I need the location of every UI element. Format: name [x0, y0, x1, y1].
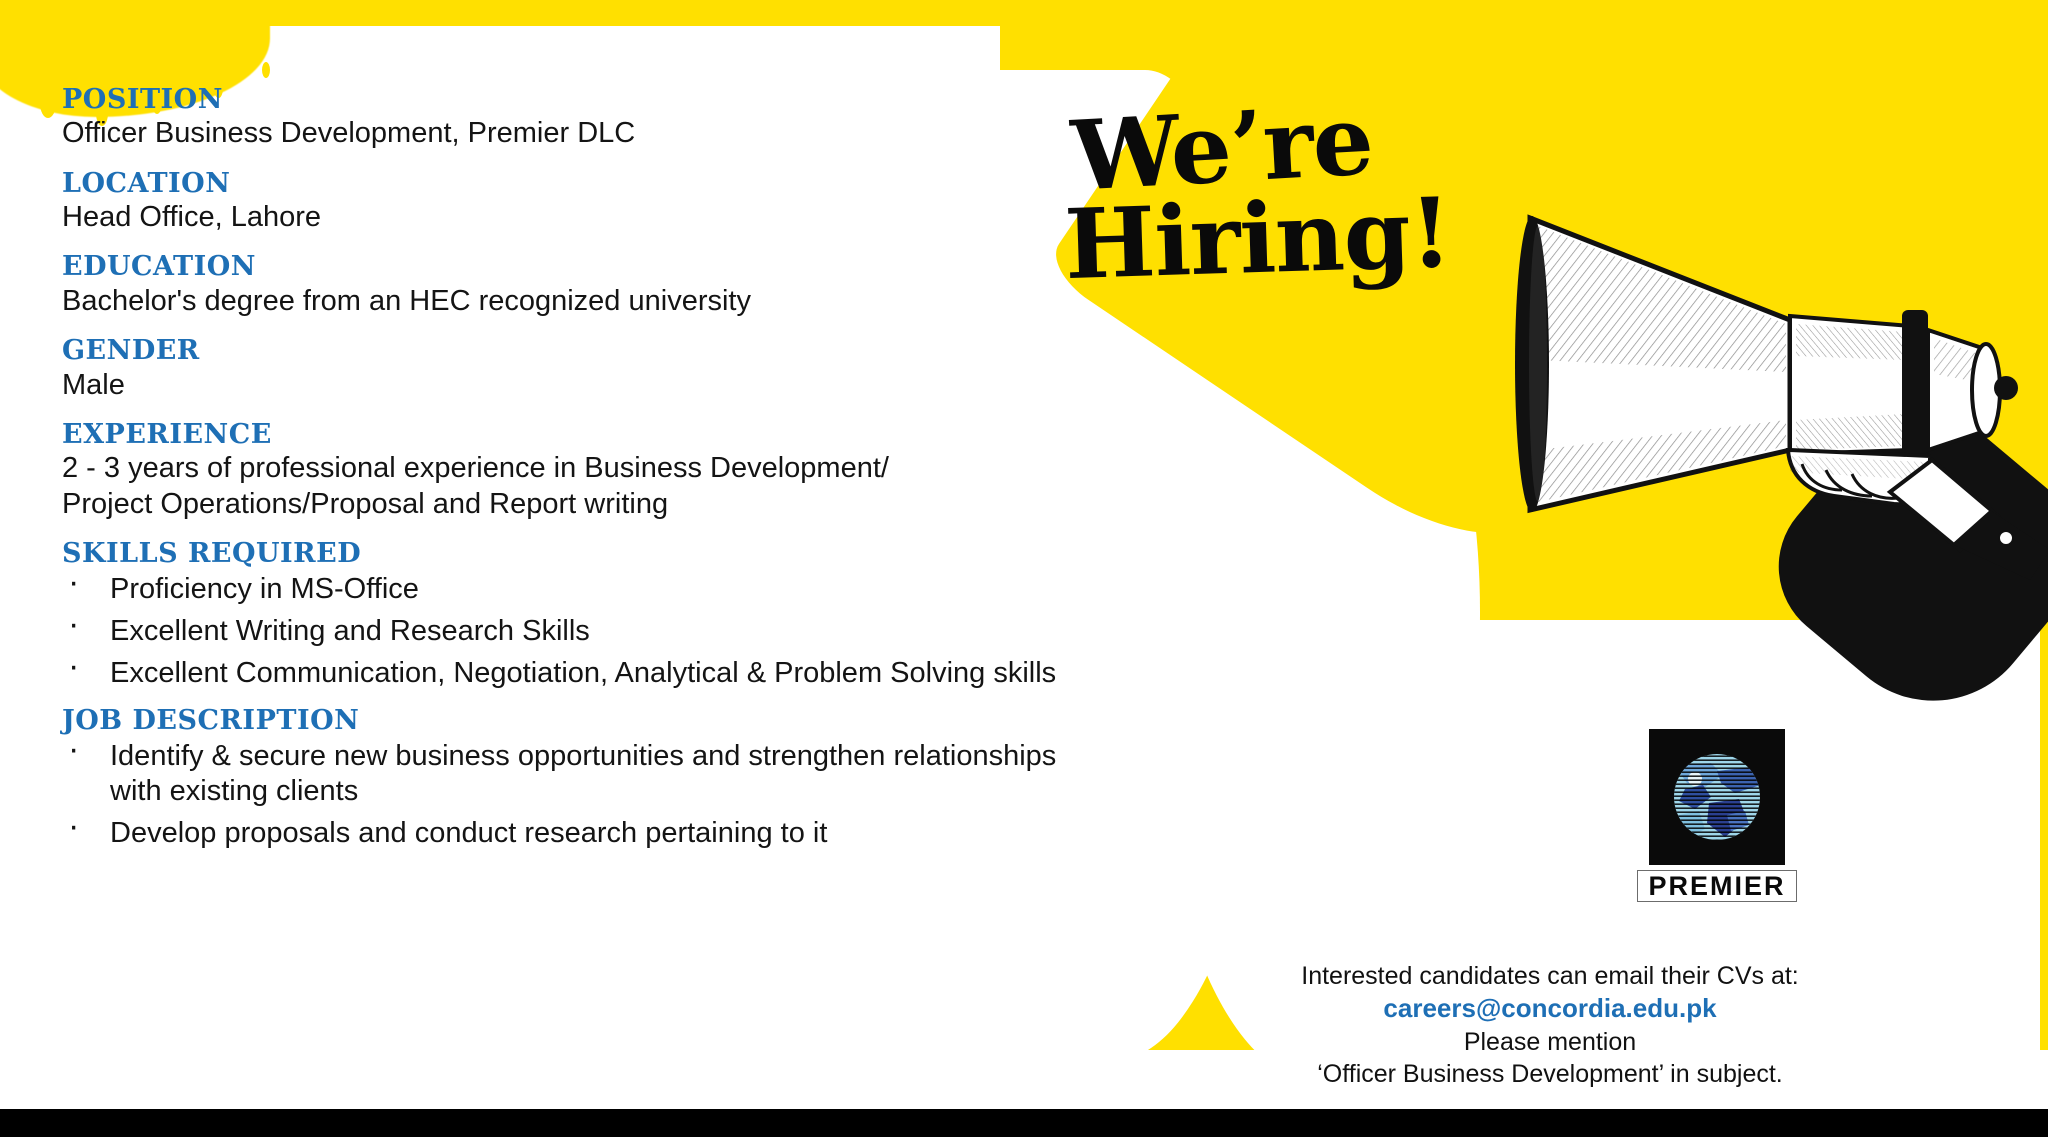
field-heading: EDUCATION	[62, 253, 1062, 281]
skills-list: Proficiency in MS-Office Excellent Writi…	[62, 572, 1062, 690]
job-posting-poster: We’re Hiring!	[0, 0, 2048, 1137]
field-heading: JOB DESCRIPTION	[62, 707, 1062, 735]
contact-email[interactable]: careers@concordia.edu.pk	[1080, 992, 2020, 1026]
field-value: Head Office, Lahore	[62, 200, 1062, 235]
field-heading: LOCATION	[62, 170, 1062, 198]
list-item: Excellent Writing and Research Skills	[62, 614, 1062, 649]
field-value: Male	[62, 368, 1062, 403]
field-value: Bachelor's degree from an HEC recognized…	[62, 284, 1062, 319]
headline-were-hiring: We’re Hiring!	[1057, 82, 1587, 299]
job-details-column: POSITION Officer Business Development, P…	[62, 86, 1062, 868]
job-description-list: Identify & secure new business opportuni…	[62, 739, 1062, 850]
headline-line-2: Hiring!	[1063, 182, 1586, 292]
field-heading: GENDER	[62, 337, 1062, 365]
field-heading: EXPERIENCE	[62, 421, 1062, 449]
list-item: Identify & secure new business opportuni…	[62, 739, 1062, 809]
field-heading: POSITION	[62, 86, 1062, 114]
field-heading: SKILLS REQUIRED	[62, 540, 1062, 568]
field-value: Officer Business Development, Premier DL…	[62, 116, 1062, 151]
field-job-description: JOB DESCRIPTION Identify & secure new bu…	[62, 707, 1062, 851]
field-position: POSITION Officer Business Development, P…	[62, 86, 1062, 152]
premier-logo-wordmark: PREMIER	[1637, 870, 1797, 902]
paint-fleck-icon	[40, 88, 56, 118]
list-item: Excellent Communication, Negotiation, An…	[62, 656, 1062, 691]
list-item: Develop proposals and conduct research p…	[62, 816, 1062, 851]
field-education: EDUCATION Bachelor's degree from an HEC …	[62, 253, 1062, 319]
paint-fleck-icon	[262, 62, 270, 78]
field-skills-required: SKILLS REQUIRED Proficiency in MS-Office…	[62, 540, 1062, 691]
premier-logo: PREMIER	[1631, 729, 1803, 902]
contact-block: Interested candidates can email their CV…	[1080, 960, 2020, 1090]
list-item: Proficiency in MS-Office	[62, 572, 1062, 607]
contact-intro: Interested candidates can email their CV…	[1080, 960, 2020, 992]
field-location: LOCATION Head Office, Lahore	[62, 170, 1062, 236]
contact-subject-note: ‘Officer Business Development’ in subjec…	[1080, 1058, 2020, 1090]
field-value: 2 - 3 years of professional experience i…	[62, 451, 1062, 522]
field-gender: GENDER Male	[62, 337, 1062, 403]
field-experience: EXPERIENCE 2 - 3 years of professional e…	[62, 421, 1062, 522]
bottom-black-bar	[0, 1109, 2048, 1137]
contact-mention: Please mention	[1080, 1026, 2020, 1058]
globe-icon	[1649, 729, 1785, 865]
